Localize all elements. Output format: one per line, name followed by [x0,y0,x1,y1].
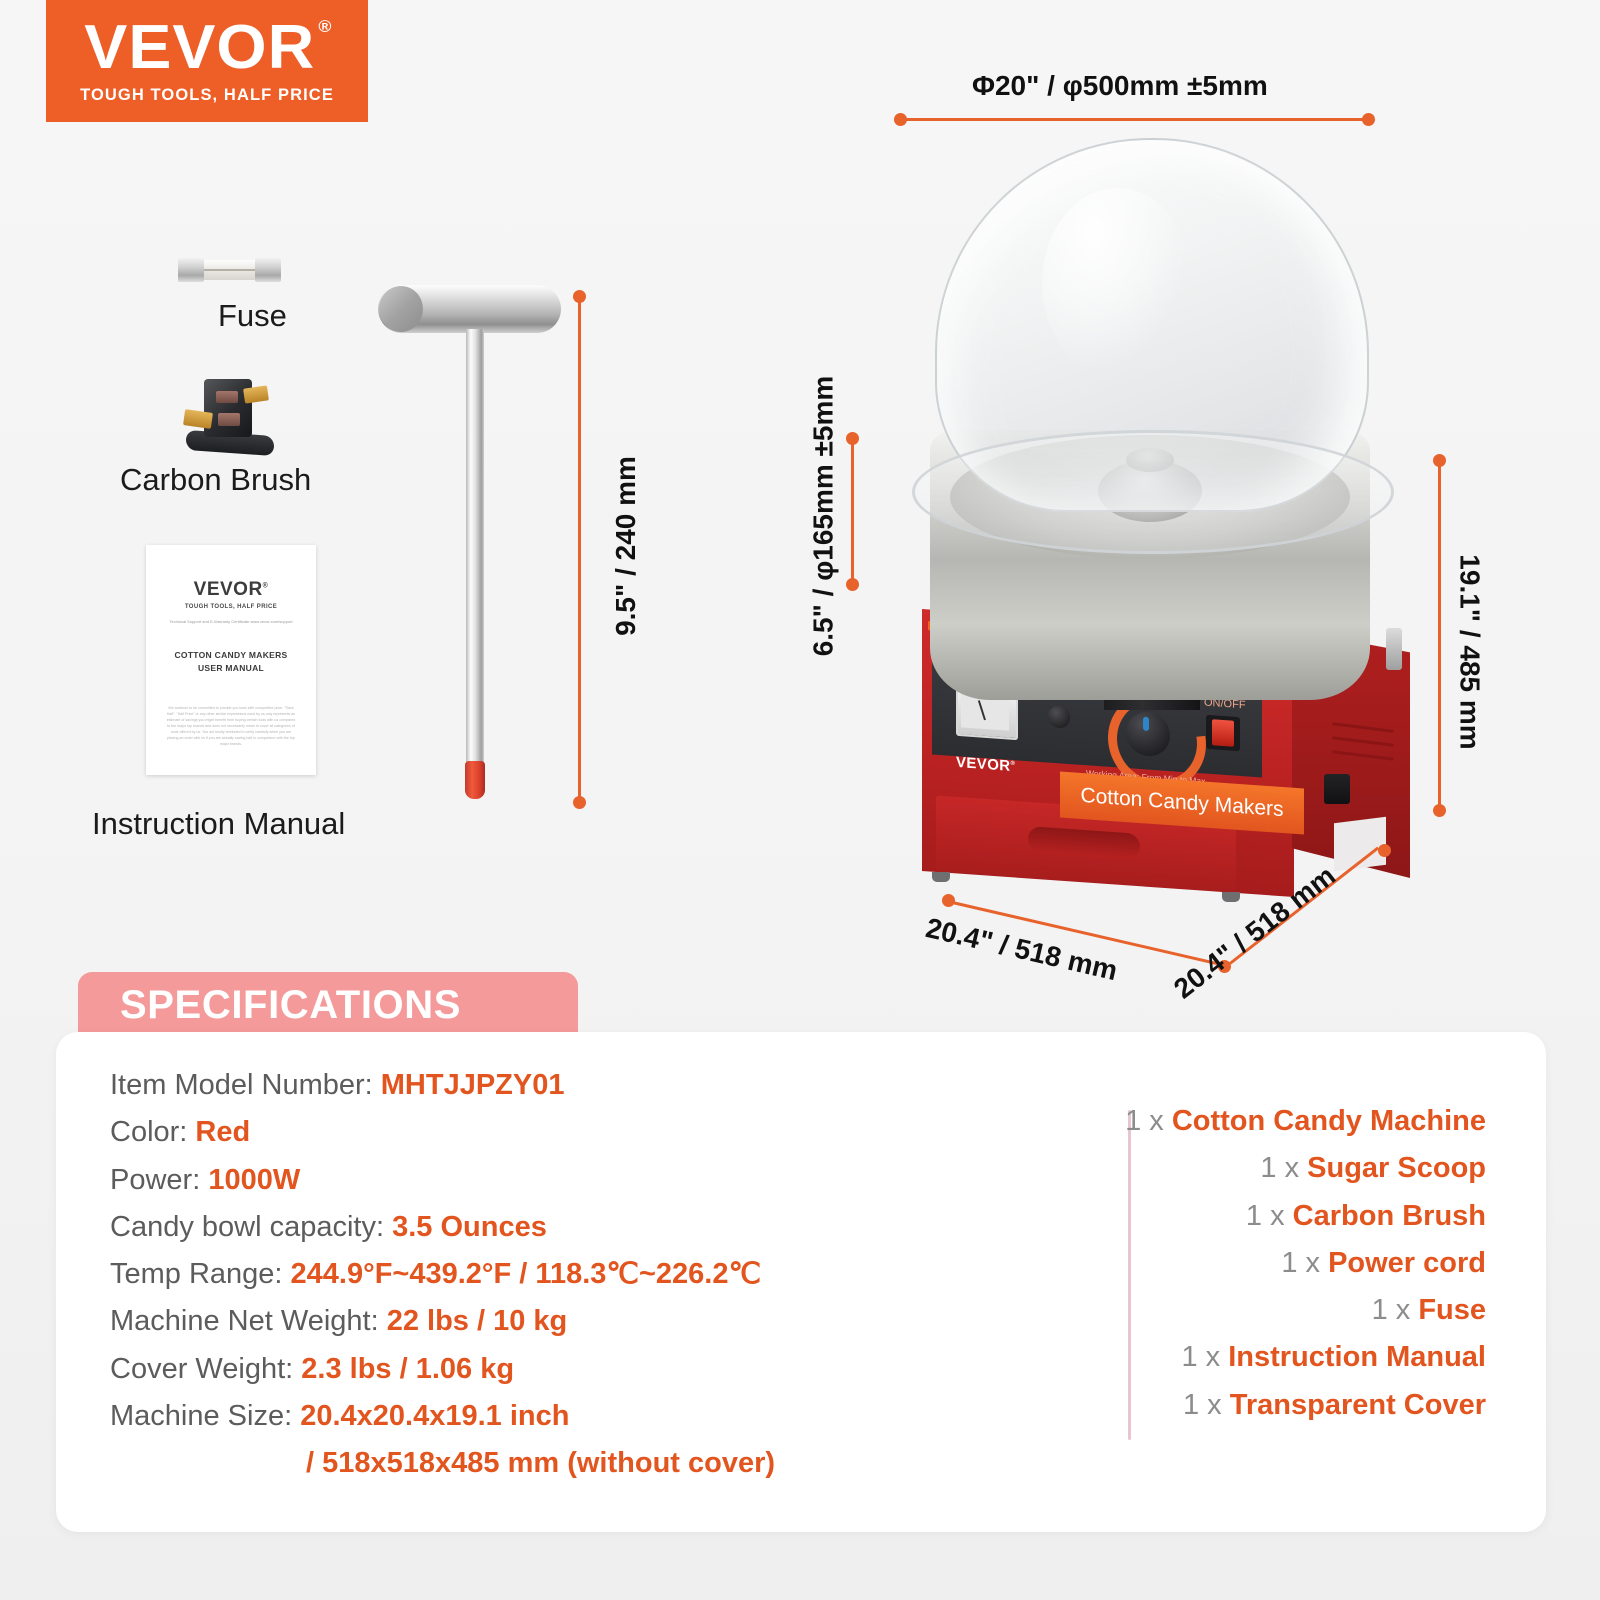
spec-row: Temp Range: 244.9°F~439.2°F / 118.3℃~226… [110,1251,930,1298]
registered-mark: ® [319,17,333,36]
bowl-dimension-line [851,438,854,584]
fuse-wire [204,269,256,271]
band-text: Cotton Candy Makers [1080,784,1283,822]
instruction-manual-label: Instruction Manual [92,806,345,842]
insurance-knob[interactable] [1048,705,1070,729]
specifications-list: Item Model Number: MHTJJPZY01 Color: Red… [110,1062,930,1487]
manual-brand: VEVOR® [194,579,269,601]
dome-width-dimension-line [900,118,1368,121]
list-item: 1 x Fuse [1066,1287,1486,1334]
height-dimension-dot-top [1433,454,1446,467]
specifications-heading: SPECIFICATIONS [120,983,461,1028]
brand-tagline: TOUGH TOOLS, HALF PRICE [80,86,334,105]
dome-latch-right [1386,628,1402,670]
list-item: 1 x Carbon Brush [1066,1193,1486,1240]
spec-row: Item Model Number: MHTJJPZY01 [110,1062,930,1109]
list-item: 1 x Instruction Manual [1066,1334,1486,1381]
spec-row: Cover Weight: 2.3 lbs / 1.06 kg [110,1346,930,1393]
dome-width-dot-right [1362,113,1375,126]
product-spec-page: VEVOR® TOUGH TOOLS, HALF PRICE Fuse Carb… [0,0,1600,1600]
manual-body-text: We continue to be committed to provide y… [165,705,297,748]
cotton-candy-machine-image: Voltmeter Insurance Temperature ON/OFF V… [880,130,1420,920]
height-dimension-line [1438,460,1441,810]
brand-name: VEVOR® [84,17,329,79]
dome-width-label: Φ20" / φ500mm ±5mm [972,70,1268,102]
carbon-brush-label: Carbon Brush [120,462,311,498]
machine-height-label: 19.1" / 485 mm [1454,554,1486,749]
machine-foot [1222,892,1240,902]
fuse-image [178,258,281,282]
dome-highlight [1042,188,1192,378]
power-socket [1324,774,1350,804]
power-switch[interactable] [1206,715,1240,751]
carbon-brush-image [180,375,280,457]
base-side-dot-right [1378,844,1391,857]
spec-row: Machine Size: 20.4x20.4x19.1 inch [110,1393,930,1440]
fuse-label: Fuse [218,298,287,334]
list-item: 1 x Cotton Candy Machine [1066,1098,1486,1145]
dome-rim [912,430,1394,554]
brush-terminal-lower [183,409,213,429]
fuse-cap-right [255,258,281,282]
dome-width-dot-left [894,113,907,126]
scoop-dimension-dot-bottom [573,796,586,809]
scoop-dimension-dot-top [573,290,586,303]
spec-row: Candy bowl capacity: 3.5 Ounces [110,1204,930,1251]
list-item: 1 x Transparent Cover [1066,1382,1486,1429]
base-front-dot-left [942,894,955,907]
power-switch-rocker [1212,719,1234,747]
brush-contact-upper [216,391,238,403]
base-front-width-label: 20.4" / 518 mm [923,912,1121,987]
brush-contact-lower [218,413,240,426]
sugar-scoop-image [378,285,578,815]
fuse-cap-left [178,258,204,282]
bowl-dimension-dot-top [846,432,859,445]
list-item: 1 x Power cord [1066,1240,1486,1287]
spec-row: Color: Red [110,1109,930,1156]
brush-terminal-upper [243,385,269,403]
spec-row: Machine Net Weight: 22 lbs / 10 kg [110,1298,930,1345]
height-dimension-dot-bottom [1433,804,1446,817]
instruction-manual-image: VEVOR® TOUGH TOOLS, HALF PRICE Technical… [146,545,316,775]
scoop-dimension-line [578,296,581,802]
scoop-dimension-label: 9.5" / 240 mm [610,456,642,636]
bowl-diameter-label: 6.5" / φ165mm ±5mm [807,376,839,657]
machine-foot [932,872,950,882]
scoop-shaft [466,329,484,769]
scoop-head-cap [379,286,423,332]
manual-title: COTTON CANDY MAKERSUSER MANUAL [174,649,287,675]
specifications-tab: SPECIFICATIONS [78,972,578,1038]
bowl-dimension-dot-bottom [846,578,859,591]
spec-row: Power: 1000W [110,1157,930,1204]
package-contents-list: 1 x Cotton Candy Machine 1 x Sugar Scoop… [1066,1098,1486,1429]
spec-row-continuation: / 518x518x485 mm (without cover) [306,1440,930,1487]
vevor-logo: VEVOR® TOUGH TOOLS, HALF PRICE [46,0,368,122]
scoop-red-tip [465,761,485,799]
list-item: 1 x Sugar Scoop [1066,1145,1486,1192]
manual-support-line: Technical Support and E-Warranty Certifi… [169,619,292,625]
manual-tagline: TOUGH TOOLS, HALF PRICE [185,604,277,610]
